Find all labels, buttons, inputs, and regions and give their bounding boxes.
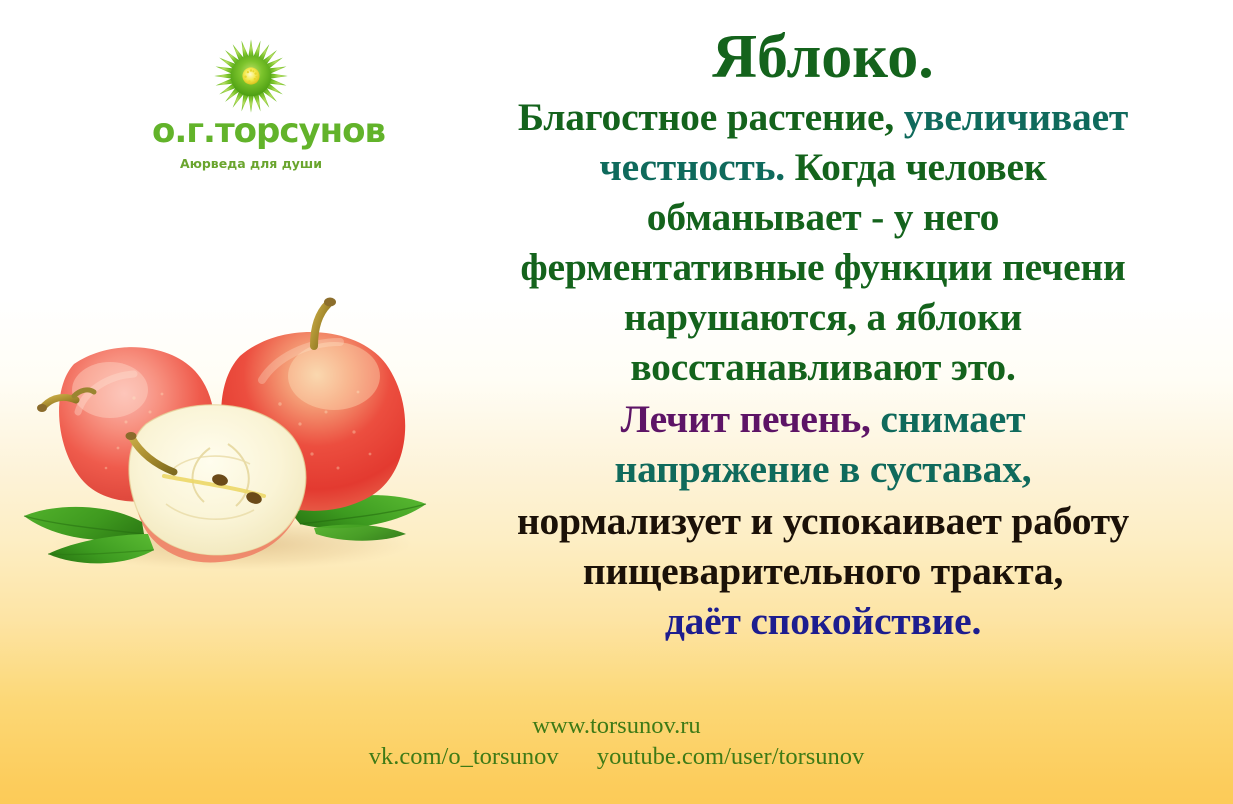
text-line-6: восстанавливают это. <box>424 343 1222 393</box>
paragraph-two: Лечит печень, снимает напряжение в суста… <box>424 395 1222 495</box>
brand-name: о.г.торсунов <box>152 114 350 148</box>
footer-links: www.torsunov.ru vk.com/o_torsunov youtub… <box>0 712 1233 772</box>
apples-photo <box>14 272 444 584</box>
paragraph-three: нормализует и успокаивает работу пищевар… <box>424 497 1222 647</box>
footer-spacer <box>565 743 591 772</box>
sunburst-flower-icon <box>152 34 350 118</box>
text-line-10: пищеварительного тракта, <box>424 547 1222 597</box>
text-line-8: напряжение в суставах, <box>424 445 1222 495</box>
footer-youtube-link[interactable]: youtube.com/user/torsunov <box>597 743 864 772</box>
footer-vk-link[interactable]: vk.com/o_torsunov <box>369 743 559 772</box>
text-line-4: ферментативные функции печени <box>424 243 1222 293</box>
footer-social-row: vk.com/o_torsunov youtube.com/user/torsu… <box>0 743 1233 772</box>
paragraph-one: Благостное растение, увеличивает честнос… <box>424 93 1222 393</box>
text-line-3: обманывает - у него <box>424 193 1222 243</box>
footer-website-link[interactable]: www.torsunov.ru <box>0 712 1233 741</box>
text-line-9: нормализует и успокаивает работу <box>424 497 1222 547</box>
text-line-11: даёт спокойствие. <box>424 597 1222 647</box>
text-line-5: нарушаются, а яблоки <box>424 293 1222 343</box>
page-title: Яблоко. <box>424 26 1222 89</box>
text-line-2: честность. Когда человек <box>424 143 1222 193</box>
text-line-1: Благостное растение, увеличивает <box>424 93 1222 143</box>
poster-text-block: Яблоко. Благостное растение, увеличивает… <box>424 26 1222 647</box>
poster-canvas: о.г.торсунов Аюрведа для души <box>0 0 1233 804</box>
text-line-7: Лечит печень, снимает <box>424 395 1222 445</box>
brand-logo[interactable]: о.г.торсунов Аюрведа для души <box>152 34 350 174</box>
brand-tagline: Аюрведа для души <box>152 156 350 171</box>
